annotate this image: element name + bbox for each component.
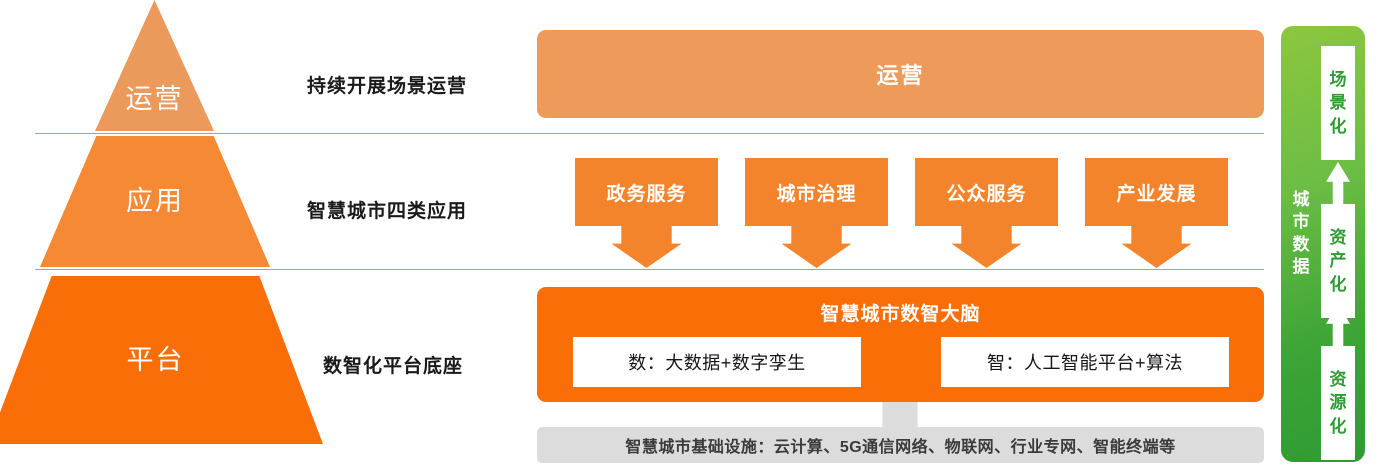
operation-bar-label: 运营 — [876, 58, 924, 90]
value-chain-stage-asset-label: 资产化 — [1328, 226, 1348, 296]
application-block-city-governance: 城市治理 — [745, 158, 888, 268]
application-box: 城市治理 — [745, 158, 888, 226]
application-box: 产业发展 — [1085, 158, 1228, 226]
down-arrow-icon — [952, 226, 1022, 268]
application-block-industry-development: 产业发展 — [1085, 158, 1228, 268]
tier-divider-line-2 — [35, 269, 1264, 270]
tier-caption-platform: 数智化平台底座 — [323, 351, 463, 378]
smart-city-architecture-diagram: 运营 应用 平台 持续开展场景运营 智慧城市四类应用 数智化平台底座 运营 政务… — [0, 0, 1378, 472]
application-box: 政务服务 — [575, 158, 718, 226]
application-block-public-service: 公众服务 — [915, 158, 1058, 268]
platform-cell-data-label: 数：大数据+数字孪生 — [628, 349, 806, 375]
value-chain-stage-scenario: 场景化 — [1321, 46, 1355, 160]
application-label: 城市治理 — [776, 179, 856, 206]
value-chain-stage-asset: 资产化 — [1321, 204, 1355, 318]
up-arrow-icon-stage-1 — [1326, 162, 1350, 206]
application-block-government-service: 政务服务 — [575, 158, 718, 268]
platform-brain-panel: 智慧城市数智大脑 数：大数据+数字孪生 智：人工智能平台+算法 — [537, 287, 1264, 402]
pyramid-tier-platform-label: 平台 — [127, 347, 185, 374]
pyramid-tier-platform: 平台 — [0, 276, 323, 444]
application-label: 公众服务 — [946, 179, 1026, 206]
infrastructure-bar: 智慧城市基础设施：云计算、5G通信网络、物联网、行业专网、智能终端等 — [537, 427, 1264, 463]
application-label: 产业发展 — [1116, 179, 1196, 206]
pyramid-tier-operation: 运营 — [95, 0, 214, 131]
platform-cell-intelligence-label: 智：人工智能平台+算法 — [987, 349, 1183, 375]
down-arrow-icon — [1122, 226, 1192, 268]
platform-cell-intelligence: 智：人工智能平台+算法 — [941, 337, 1229, 387]
operation-bar: 运营 — [537, 30, 1264, 118]
platform-brain-title: 智慧城市数智大脑 — [537, 299, 1264, 326]
value-chain-stage-scenario-label: 场景化 — [1328, 68, 1348, 138]
city-data-side-label: 城市数据 — [1290, 189, 1312, 279]
platform-cell-data: 数：大数据+数字孪生 — [573, 337, 861, 387]
application-label: 政务服务 — [606, 179, 686, 206]
down-arrow-icon — [782, 226, 852, 268]
value-chain-stage-resource-label: 资源化 — [1328, 368, 1348, 438]
pyramid-tier-application-label: 应用 — [126, 188, 184, 215]
application-box: 公众服务 — [915, 158, 1058, 226]
data-value-chain-panel: 城市数据 场景化 资产化 资源化 — [1281, 26, 1365, 462]
tier-caption-application: 智慧城市四类应用 — [307, 196, 467, 223]
tier-caption-operation: 持续开展场景运营 — [307, 71, 467, 98]
value-chain-stage-resource: 资源化 — [1321, 346, 1355, 460]
pyramid-tier-application: 应用 — [40, 136, 270, 267]
down-arrow-icon — [612, 226, 682, 268]
pyramid-tier-operation-label: 运营 — [126, 86, 184, 113]
infrastructure-bar-label: 智慧城市基础设施：云计算、5G通信网络、物联网、行业专网、智能终端等 — [625, 433, 1175, 457]
tier-divider-line-1 — [35, 133, 1264, 134]
